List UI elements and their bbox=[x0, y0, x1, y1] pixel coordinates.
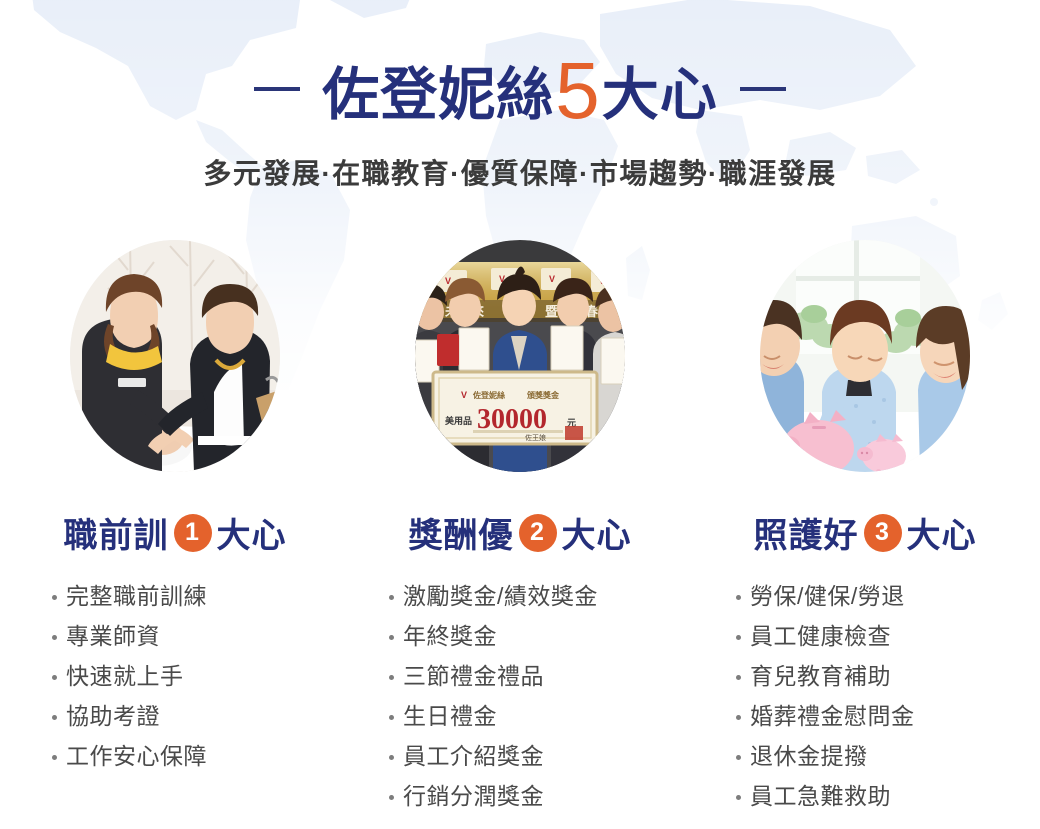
bullet-dot-icon bbox=[736, 595, 741, 600]
heading-prefix: 職前訓 bbox=[64, 508, 169, 557]
benefit-list-care: 勞保/健保/勞退 員工健康檢查 育兒教育補助 婚葬禮金慰問金 退休金提撥 員工急… bbox=[720, 585, 1010, 825]
list-item-label: 激勵獎金/績效獎金 bbox=[403, 585, 598, 608]
list-item: 員工介紹獎金 bbox=[389, 745, 544, 768]
list-item-label: 員工健康檢查 bbox=[750, 625, 891, 648]
benefit-heading-training: 職前訓 1 大心 bbox=[64, 508, 287, 557]
list-item: 勞保/健保/勞退 bbox=[736, 585, 905, 608]
page-subtitle: 多元發展·在職教育·優質保障·市場趨勢·職涯發展 bbox=[0, 152, 1040, 192]
list-item-label: 行銷分潤獎金 bbox=[403, 785, 544, 808]
list-item: 激勵獎金/績效獎金 bbox=[389, 585, 598, 608]
list-item-label: 退休金提撥 bbox=[750, 745, 868, 768]
benefit-column-compensation: VV VV 迎未來 獎暨春 bbox=[375, 240, 665, 825]
benefit-list-compensation: 激勵獎金/績效獎金 年終獎金 三節禮金禮品 生日禮金 員工介紹獎金 行銷分潤獎金 bbox=[375, 585, 665, 825]
benefit-column-training: 職前訓 1 大心 完整職前訓練 專業師資 快速就上手 協助考證 工作安心保障 bbox=[30, 240, 320, 825]
bullet-dot-icon bbox=[52, 635, 57, 640]
bullet-dot-icon bbox=[736, 755, 741, 760]
heading-badge-1: 1 bbox=[174, 514, 212, 552]
list-item: 員工急難救助 bbox=[736, 785, 891, 808]
bullet-dot-icon bbox=[52, 595, 57, 600]
heading-suffix: 大心 bbox=[562, 508, 632, 557]
heading-suffix: 大心 bbox=[217, 508, 287, 557]
list-item-label: 員工急難救助 bbox=[750, 785, 891, 808]
heading-prefix: 照護好 bbox=[754, 508, 859, 557]
list-item: 育兒教育補助 bbox=[736, 665, 891, 688]
list-item-label: 協助考證 bbox=[66, 705, 160, 728]
award-photo: VV VV 迎未來 獎暨春 bbox=[415, 240, 625, 472]
svg-text:美用品: 美用品 bbox=[445, 415, 472, 426]
title-right-rule bbox=[740, 87, 786, 91]
list-item-label: 生日禮金 bbox=[403, 705, 497, 728]
list-item-label: 婚葬禮金慰問金 bbox=[750, 705, 915, 728]
list-item: 快速就上手 bbox=[52, 665, 184, 688]
list-item: 三節禮金禮品 bbox=[389, 665, 544, 688]
training-photo bbox=[70, 240, 280, 472]
benefit-heading-care: 照護好 3 大心 bbox=[754, 508, 977, 557]
list-item-label: 育兒教育補助 bbox=[750, 665, 891, 688]
family-savings-photo bbox=[760, 240, 970, 472]
list-item: 婚葬禮金慰問金 bbox=[736, 705, 915, 728]
svg-text:V: V bbox=[599, 276, 605, 286]
list-item: 退休金提撥 bbox=[736, 745, 868, 768]
award-photo-illustration: VV VV 迎未來 獎暨春 bbox=[415, 240, 625, 472]
svg-text:佐登妮絲: 佐登妮絲 bbox=[472, 390, 505, 400]
family-savings-photo-illustration bbox=[760, 240, 970, 472]
page-title-text: 佐登妮絲5大心 bbox=[322, 55, 718, 124]
list-item-label: 年終獎金 bbox=[403, 625, 497, 648]
title-number: 5 bbox=[555, 59, 601, 123]
bullet-dot-icon bbox=[389, 795, 394, 800]
list-item: 生日禮金 bbox=[389, 705, 497, 728]
list-item: 員工健康檢查 bbox=[736, 625, 891, 648]
bullet-dot-icon bbox=[736, 675, 741, 680]
page-title: 佐登妮絲5大心 bbox=[0, 52, 1040, 126]
bullet-dot-icon bbox=[52, 675, 57, 680]
list-item: 行銷分潤獎金 bbox=[389, 785, 544, 808]
svg-text:頒獎獎金: 頒獎獎金 bbox=[526, 390, 560, 400]
training-photo-illustration bbox=[70, 240, 280, 472]
benefit-column-care: 照護好 3 大心 勞保/健保/勞退 員工健康檢查 育兒教育補助 婚葬禮金慰問金 … bbox=[720, 240, 1010, 825]
svg-text:暨: 暨 bbox=[545, 304, 558, 319]
recruitment-benefits-page: 佐登妮絲5大心 多元發展·在職教育·優質保障·市場趨勢·職涯發展 bbox=[0, 0, 1040, 829]
list-item: 協助考證 bbox=[52, 705, 160, 728]
bullet-dot-icon bbox=[389, 755, 394, 760]
benefit-list-training: 完整職前訓練 專業師資 快速就上手 協助考證 工作安心保障 bbox=[30, 585, 320, 785]
list-item-label: 完整職前訓練 bbox=[66, 585, 207, 608]
bullet-dot-icon bbox=[389, 595, 394, 600]
bullet-dot-icon bbox=[736, 635, 741, 640]
heading-badge-2: 2 bbox=[519, 514, 557, 552]
heading-suffix: 大心 bbox=[907, 508, 977, 557]
heading-badge-3: 3 bbox=[864, 514, 902, 552]
list-item-label: 工作安心保障 bbox=[66, 745, 207, 768]
list-item: 專業師資 bbox=[52, 625, 160, 648]
svg-text:V: V bbox=[549, 274, 555, 284]
title-left-rule bbox=[254, 87, 300, 91]
list-item-label: 三節禮金禮品 bbox=[403, 665, 544, 688]
list-item-label: 快速就上手 bbox=[66, 665, 184, 688]
bullet-dot-icon bbox=[52, 715, 57, 720]
bullet-dot-icon bbox=[736, 795, 741, 800]
svg-text:V: V bbox=[445, 276, 451, 286]
bullet-dot-icon bbox=[389, 675, 394, 680]
list-item-label: 勞保/健保/勞退 bbox=[750, 585, 905, 608]
benefit-heading-compensation: 獎酬優 2 大心 bbox=[409, 508, 632, 557]
heading-prefix: 獎酬優 bbox=[409, 508, 514, 557]
list-item-label: 員工介紹獎金 bbox=[403, 745, 544, 768]
list-item: 年終獎金 bbox=[389, 625, 497, 648]
svg-text:V: V bbox=[461, 390, 467, 400]
list-item-label: 專業師資 bbox=[66, 625, 160, 648]
bullet-dot-icon bbox=[389, 715, 394, 720]
list-item: 工作安心保障 bbox=[52, 745, 207, 768]
page-header: 佐登妮絲5大心 多元發展·在職教育·優質保障·市場趨勢·職涯發展 bbox=[0, 0, 1040, 192]
title-suffix: 大心 bbox=[602, 67, 718, 124]
list-item: 完整職前訓練 bbox=[52, 585, 207, 608]
bullet-dot-icon bbox=[52, 755, 57, 760]
bullet-dot-icon bbox=[736, 715, 741, 720]
bullet-dot-icon bbox=[389, 635, 394, 640]
title-prefix: 佐登妮絲 bbox=[322, 67, 554, 124]
svg-text:佐王娘: 佐王娘 bbox=[525, 433, 546, 442]
benefit-columns: 職前訓 1 大心 完整職前訓練 專業師資 快速就上手 協助考證 工作安心保障 bbox=[0, 240, 1040, 825]
